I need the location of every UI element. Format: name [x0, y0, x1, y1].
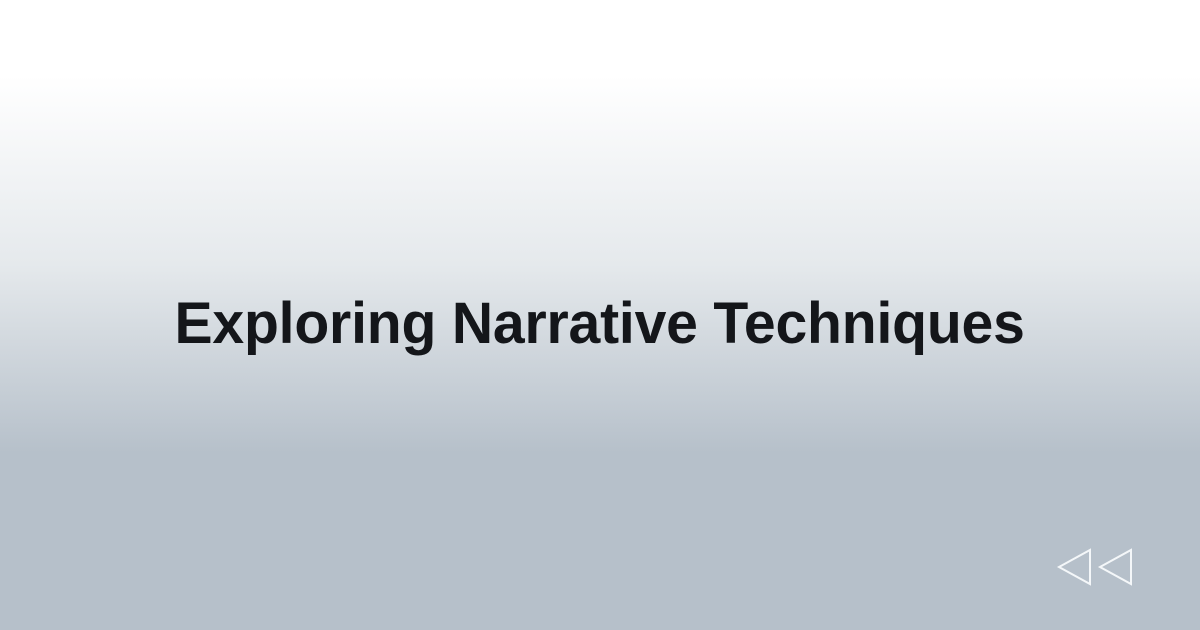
- title-block: Exploring Narrative Techniques: [0, 282, 1200, 366]
- slide-navigation-controls: [1057, 548, 1134, 586]
- page-title: Exploring Narrative Techniques: [175, 293, 1025, 354]
- slide-canvas: Exploring Narrative Techniques: [0, 0, 1200, 630]
- triangle-left-icon: [1098, 548, 1134, 586]
- previous-slide-button[interactable]: [1057, 548, 1093, 586]
- triangle-left-icon: [1057, 548, 1093, 586]
- first-slide-button[interactable]: [1098, 548, 1134, 586]
